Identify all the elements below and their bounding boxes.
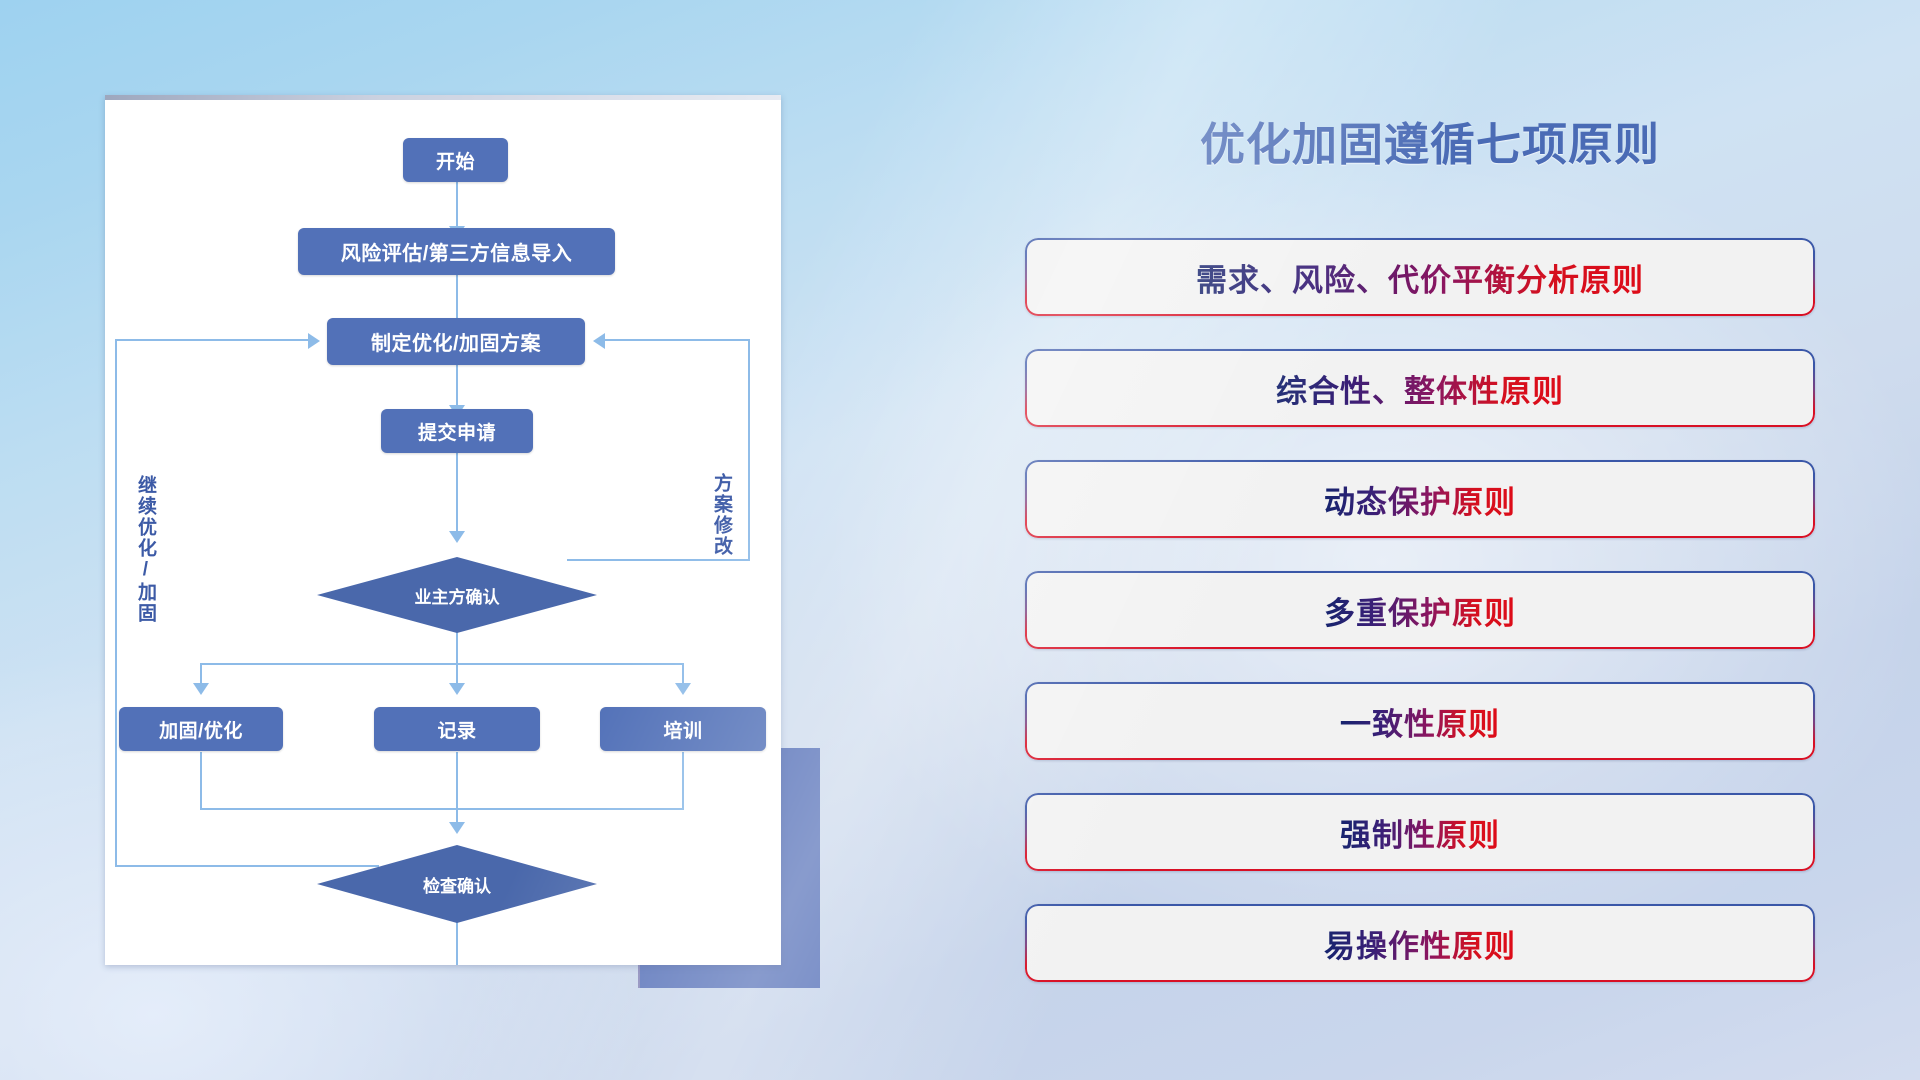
connector-submit-owner [456, 453, 458, 537]
connector-plan-submit [456, 363, 458, 411]
connector-risk-plan [456, 272, 458, 324]
principle-item-1-label: 需求、风险、代价平衡分析原则 [1196, 255, 1644, 300]
flow-node-record[interactable]: 记录 [374, 707, 540, 751]
connector-check-report [456, 921, 458, 965]
connector-loop-left-top [115, 339, 312, 341]
principle-item-1[interactable]: 需求、风险、代价平衡分析原则 [1025, 238, 1815, 316]
flow-node-plan[interactable]: 制定优化/加固方案 [327, 318, 585, 365]
flow-node-start[interactable]: 开始 [403, 138, 508, 182]
arrowhead-branch-record [449, 683, 465, 695]
connector-merge-bus [200, 808, 684, 810]
flow-node-reinforce-label: 加固/优化 [159, 716, 243, 743]
principle-item-6[interactable]: 强制性原则 [1025, 793, 1815, 871]
connector-loop-left-vertical [115, 339, 117, 867]
connector-owner-down [456, 629, 458, 665]
arrowhead-branch-reinforce [193, 683, 209, 695]
flowchart-card: 开始 风险评估/第三方信息导入 制定优化/加固方案 提交申请 业主方确认 加固/… [105, 95, 781, 965]
principle-item-7[interactable]: 易操作性原则 [1025, 904, 1815, 982]
flow-node-submit-label: 提交申请 [418, 418, 496, 445]
page-title: 优化加固遵循七项原则 [1140, 108, 1720, 173]
flow-node-plan-label: 制定优化/加固方案 [371, 327, 541, 356]
connector-reinforce-down [200, 752, 202, 810]
flow-node-record-label: 记录 [437, 716, 476, 743]
principle-item-5-label: 一致性原则 [1340, 699, 1500, 744]
arrowhead-loop-right-to-plan [593, 333, 605, 349]
flow-decision-check-confirm[interactable]: 检查确认 [317, 845, 597, 923]
principle-item-2-label: 综合性、整体性原则 [1276, 366, 1564, 411]
connector-loop-right-top [605, 339, 750, 341]
flow-decision-check-confirm-label: 检查确认 [423, 872, 491, 897]
arrowhead-branch-train [675, 683, 691, 695]
principle-item-6-label: 强制性原则 [1340, 810, 1500, 855]
principle-item-7-label: 易操作性原则 [1324, 921, 1516, 966]
principle-item-3[interactable]: 动态保护原则 [1025, 460, 1815, 538]
flow-node-submit[interactable]: 提交申请 [381, 409, 533, 453]
arrowhead-merge-check [449, 822, 465, 834]
connector-loop-right-vertical [748, 339, 750, 561]
connector-train-down [682, 752, 684, 810]
flow-node-risk-assessment-label: 风险评估/第三方信息导入 [341, 237, 573, 266]
flow-node-training-label: 培训 [663, 716, 702, 743]
arrowhead-loop-left-to-plan [308, 333, 320, 349]
connector-loop-left-bottom [115, 865, 379, 867]
principle-item-4[interactable]: 多重保护原则 [1025, 571, 1815, 649]
slide-canvas: 开始 风险评估/第三方信息导入 制定优化/加固方案 提交申请 业主方确认 加固/… [0, 0, 1920, 1080]
flow-node-start-label: 开始 [436, 147, 475, 174]
principle-item-2[interactable]: 综合性、整体性原则 [1025, 349, 1815, 427]
connector-loop-right-bottom [567, 559, 750, 561]
principle-item-5[interactable]: 一致性原则 [1025, 682, 1815, 760]
arrowhead-submit-owner [449, 531, 465, 543]
flow-decision-owner-confirm-label: 业主方确认 [415, 583, 500, 608]
principle-item-3-label: 动态保护原则 [1324, 477, 1516, 522]
flow-node-training[interactable]: 培训 [600, 707, 766, 751]
flow-edge-label-plan-revision: 方案修改 [711, 473, 731, 557]
connector-record-down [456, 752, 458, 830]
principle-item-4-label: 多重保护原则 [1324, 588, 1516, 633]
principles-list: 需求、风险、代价平衡分析原则 综合性、整体性原则 动态保护原则 多重保护原则 一… [1025, 238, 1815, 1015]
connector-start-risk [456, 180, 458, 232]
flow-decision-owner-confirm[interactable]: 业主方确认 [317, 557, 597, 633]
flow-node-risk-assessment[interactable]: 风险评估/第三方信息导入 [298, 228, 615, 275]
connector-branch-bus [200, 663, 682, 665]
flow-edge-label-continue-optimize: 继续优化/加固 [135, 475, 155, 624]
flow-node-reinforce[interactable]: 加固/优化 [119, 707, 283, 751]
